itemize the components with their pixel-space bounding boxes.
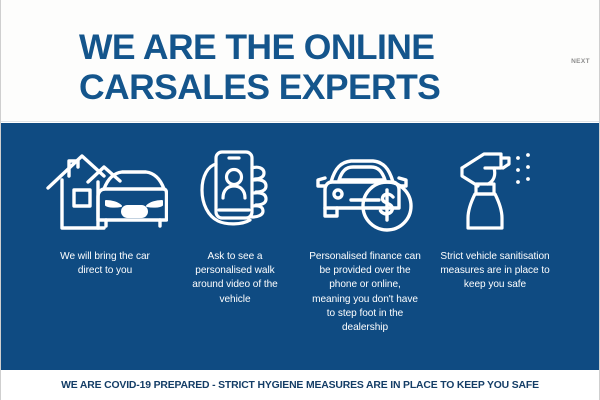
- features-panel: We will bring the car direct to you: [1, 123, 599, 370]
- hand-holding-phone-video-icon: [196, 145, 274, 237]
- page-title: WE ARE THE ONLINE CARSALES EXPERTS: [79, 27, 531, 107]
- headline-line-2: CARSALES EXPERTS: [79, 67, 531, 107]
- feature-caption: Ask to see a personalised walk around vi…: [179, 250, 291, 307]
- car-with-dollar-coin-icon: [313, 145, 417, 237]
- house-with-car-icon: [42, 145, 168, 237]
- feature-caption: Strict vehicle sanitisation measures are…: [439, 250, 551, 293]
- feature-card-list: We will bring the car direct to you: [1, 123, 599, 370]
- feature-card-delivery: We will bring the car direct to you: [49, 145, 161, 278]
- feature-card-finance: Personalised finance can be provided ove…: [309, 145, 421, 335]
- feature-caption: Personalised finance can be provided ove…: [309, 250, 421, 335]
- covid-notice-text: WE ARE COVID-19 PREPARED - STRICT HYGIEN…: [61, 380, 539, 391]
- footer-band: WE ARE COVID-19 PREPARED - STRICT HYGIEN…: [1, 370, 599, 400]
- feature-card-video-walkaround: Ask to see a personalised walk around vi…: [179, 145, 291, 307]
- feature-card-sanitisation: Strict vehicle sanitisation measures are…: [439, 145, 551, 293]
- promo-slide: WE ARE THE ONLINE CARSALES EXPERTS NEXT: [0, 0, 600, 400]
- next-button[interactable]: NEXT: [571, 58, 590, 65]
- header-band: WE ARE THE ONLINE CARSALES EXPERTS NEXT: [1, 0, 599, 122]
- headline-line-1: WE ARE THE ONLINE: [79, 27, 434, 67]
- spray-bottle-icon: [452, 145, 538, 237]
- feature-caption: We will bring the car direct to you: [49, 250, 161, 278]
